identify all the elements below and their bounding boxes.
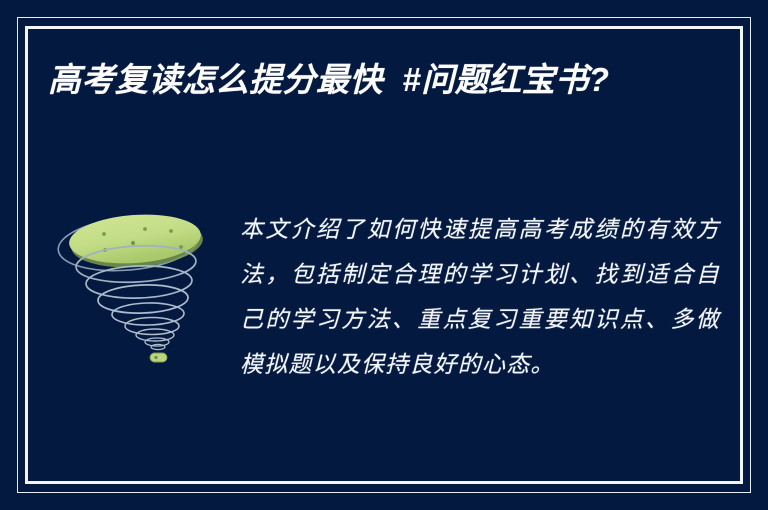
body-paragraph: 本文介绍了如何快速提高高考成绩的有效方法，包括制定合理的学习计划、找到适合自己的… (240, 208, 720, 388)
body-block: 本文介绍了如何快速提高高考成绩的有效方法，包括制定合理的学习计划、找到适合自己的… (240, 190, 720, 388)
tornado-icon (40, 198, 230, 378)
tornado-illustration (40, 198, 230, 378)
title-block: 高考复读怎么提分最快 #问题红宝书? (48, 52, 688, 108)
poster-canvas: 高考复读怎么提分最快 #问题红宝书? (0, 0, 768, 510)
page-title: 高考复读怎么提分最快 #问题红宝书? (48, 52, 688, 108)
content-row: 本文介绍了如何快速提高高考成绩的有效方法，包括制定合理的学习计划、找到适合自己的… (40, 190, 720, 388)
